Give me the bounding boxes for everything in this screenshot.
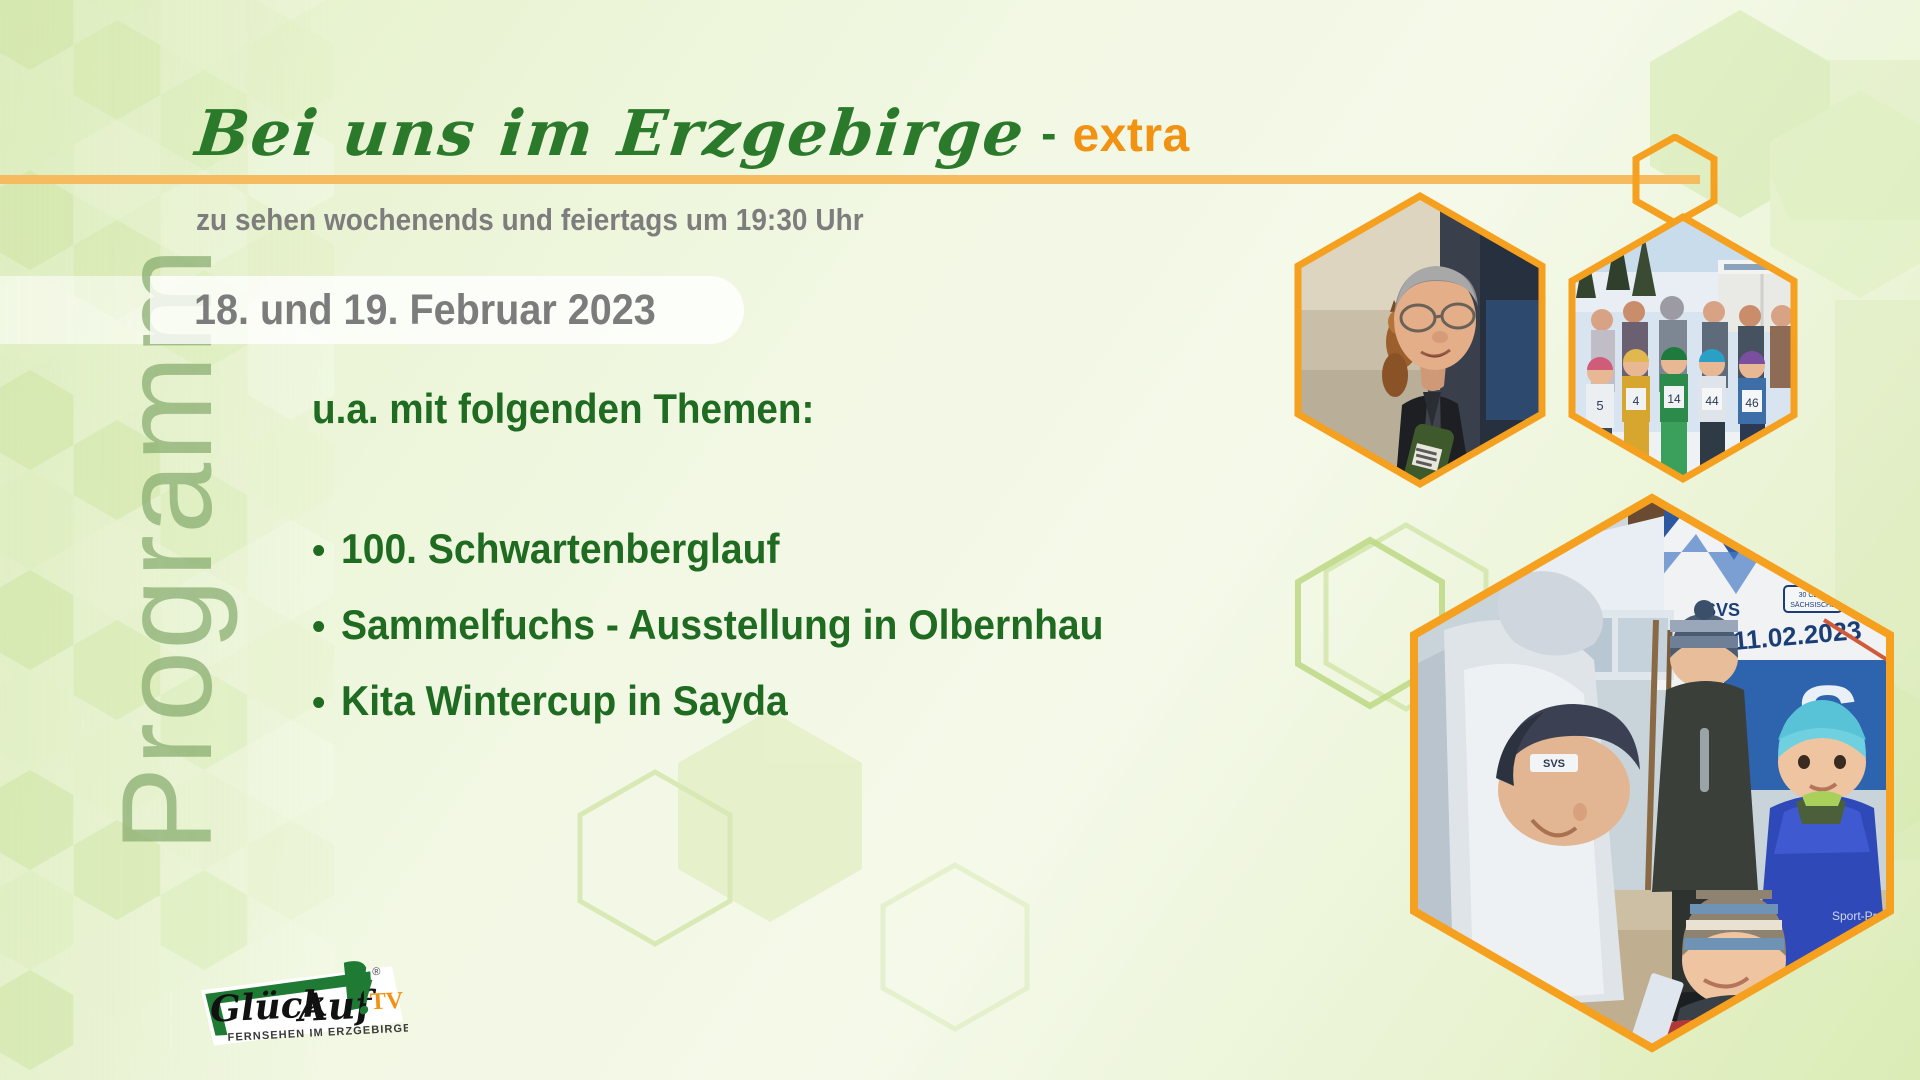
- svg-text:4: 4: [1633, 394, 1640, 408]
- headline-dash: -: [1025, 106, 1072, 160]
- svg-text:SVS: SVS: [1543, 758, 1565, 770]
- svg-text:44: 44: [1705, 394, 1719, 408]
- topic-label: 100. Schwartenberglauf: [341, 525, 779, 573]
- photo-children-tent: SVS 30 CENT SÄCHSISCHE 11.02.2023 S: [1404, 490, 1900, 1056]
- bullet-marker-icon: •: [312, 684, 325, 722]
- date-pill: 18. und 19. Februar 2023: [150, 276, 744, 344]
- svg-text:46: 46: [1745, 396, 1759, 410]
- svg-text:5: 5: [1596, 398, 1603, 413]
- svg-text:14: 14: [1667, 392, 1681, 406]
- header-orange-rule: [0, 175, 1700, 184]
- list-item: • Kita Wintercup in Sayda: [312, 677, 1161, 725]
- logo-tv: TV: [369, 988, 404, 1016]
- headline-script-title: Bei uns im Erzgebirge: [192, 96, 1029, 170]
- bullet-marker-icon: •: [312, 608, 325, 646]
- photo-children-start: 5 4 14: [1566, 212, 1800, 484]
- slide-root: Programm Bei uns im Erzgebirge - extra z…: [0, 0, 1920, 1080]
- headline: Bei uns im Erzgebirge - extra: [196, 96, 1190, 170]
- headline-extra-badge: extra: [1073, 108, 1190, 163]
- topic-label: Sammelfuchs - Ausstellung in Olbernhau: [341, 601, 1104, 649]
- glueckauf-tv-logo: Glück Auf ! ® TV FERNSEHEN IM ERZGEBIRGE: [196, 955, 408, 1047]
- list-item: • 100. Schwartenberglauf: [312, 525, 1161, 573]
- topics-list: • 100. Schwartenberglauf • Sammelfuchs -…: [312, 525, 1161, 753]
- bullet-marker-icon: •: [312, 532, 325, 570]
- list-item: • Sammelfuchs - Ausstellung in Olbernhau: [312, 601, 1161, 649]
- topic-label: Kita Wintercup in Sayda: [341, 677, 788, 725]
- date-pill-text: 18. und 19. Februar 2023: [194, 286, 656, 335]
- logo-registered-mark: ®: [372, 966, 381, 978]
- themes-heading: u.a. mit folgenden Themen:: [312, 385, 814, 433]
- photo-interview-man: [1290, 190, 1550, 490]
- broadcast-time-subtitle: zu sehen wochenends und feiertags um 19:…: [196, 202, 864, 238]
